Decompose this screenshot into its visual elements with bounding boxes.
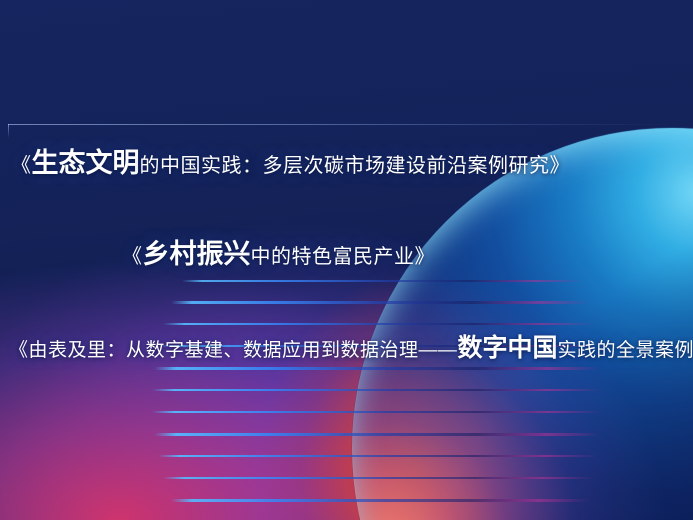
title-3-prefix: 由表及里：从数字基建、数据应用到数据治理—— xyxy=(29,340,458,361)
title-2-rest: 中的特色富民产业 xyxy=(251,246,415,268)
title-1-rest: 的中国实践：多层次碳市场建设前沿案例研究 xyxy=(140,155,550,177)
title-1-keyword: 生态文明 xyxy=(32,148,140,178)
title-line-3: 《由表及里：从数字基建、数据应用到数据治理——数字中国实践的全景案例研究》 xyxy=(9,333,693,366)
title-line-1: 《生态文明的中国实践：多层次碳市场建设前沿案例研究》 xyxy=(11,148,570,181)
title-block: 《生态文明的中国实践：多层次碳市场建设前沿案例研究》 《乡村振兴中的特色富民产业… xyxy=(0,0,693,520)
title-2-keyword: 乡村振兴 xyxy=(143,239,251,269)
title-2-open-bracket: 《 xyxy=(122,246,143,268)
title-1-open-bracket: 《 xyxy=(11,155,32,177)
title-2-close-bracket: 》 xyxy=(415,246,436,268)
title-1-close-bracket: 》 xyxy=(550,155,571,177)
title-line-2: 《乡村振兴中的特色富民产业》 xyxy=(122,239,435,272)
title-3-keyword: 数字中国 xyxy=(458,334,558,362)
title-3-rest: 实践的全景案例研究 xyxy=(558,340,693,361)
title-3-open-bracket: 《 xyxy=(9,340,29,361)
presentation-slide: 《生态文明的中国实践：多层次碳市场建设前沿案例研究》 《乡村振兴中的特色富民产业… xyxy=(0,0,693,520)
